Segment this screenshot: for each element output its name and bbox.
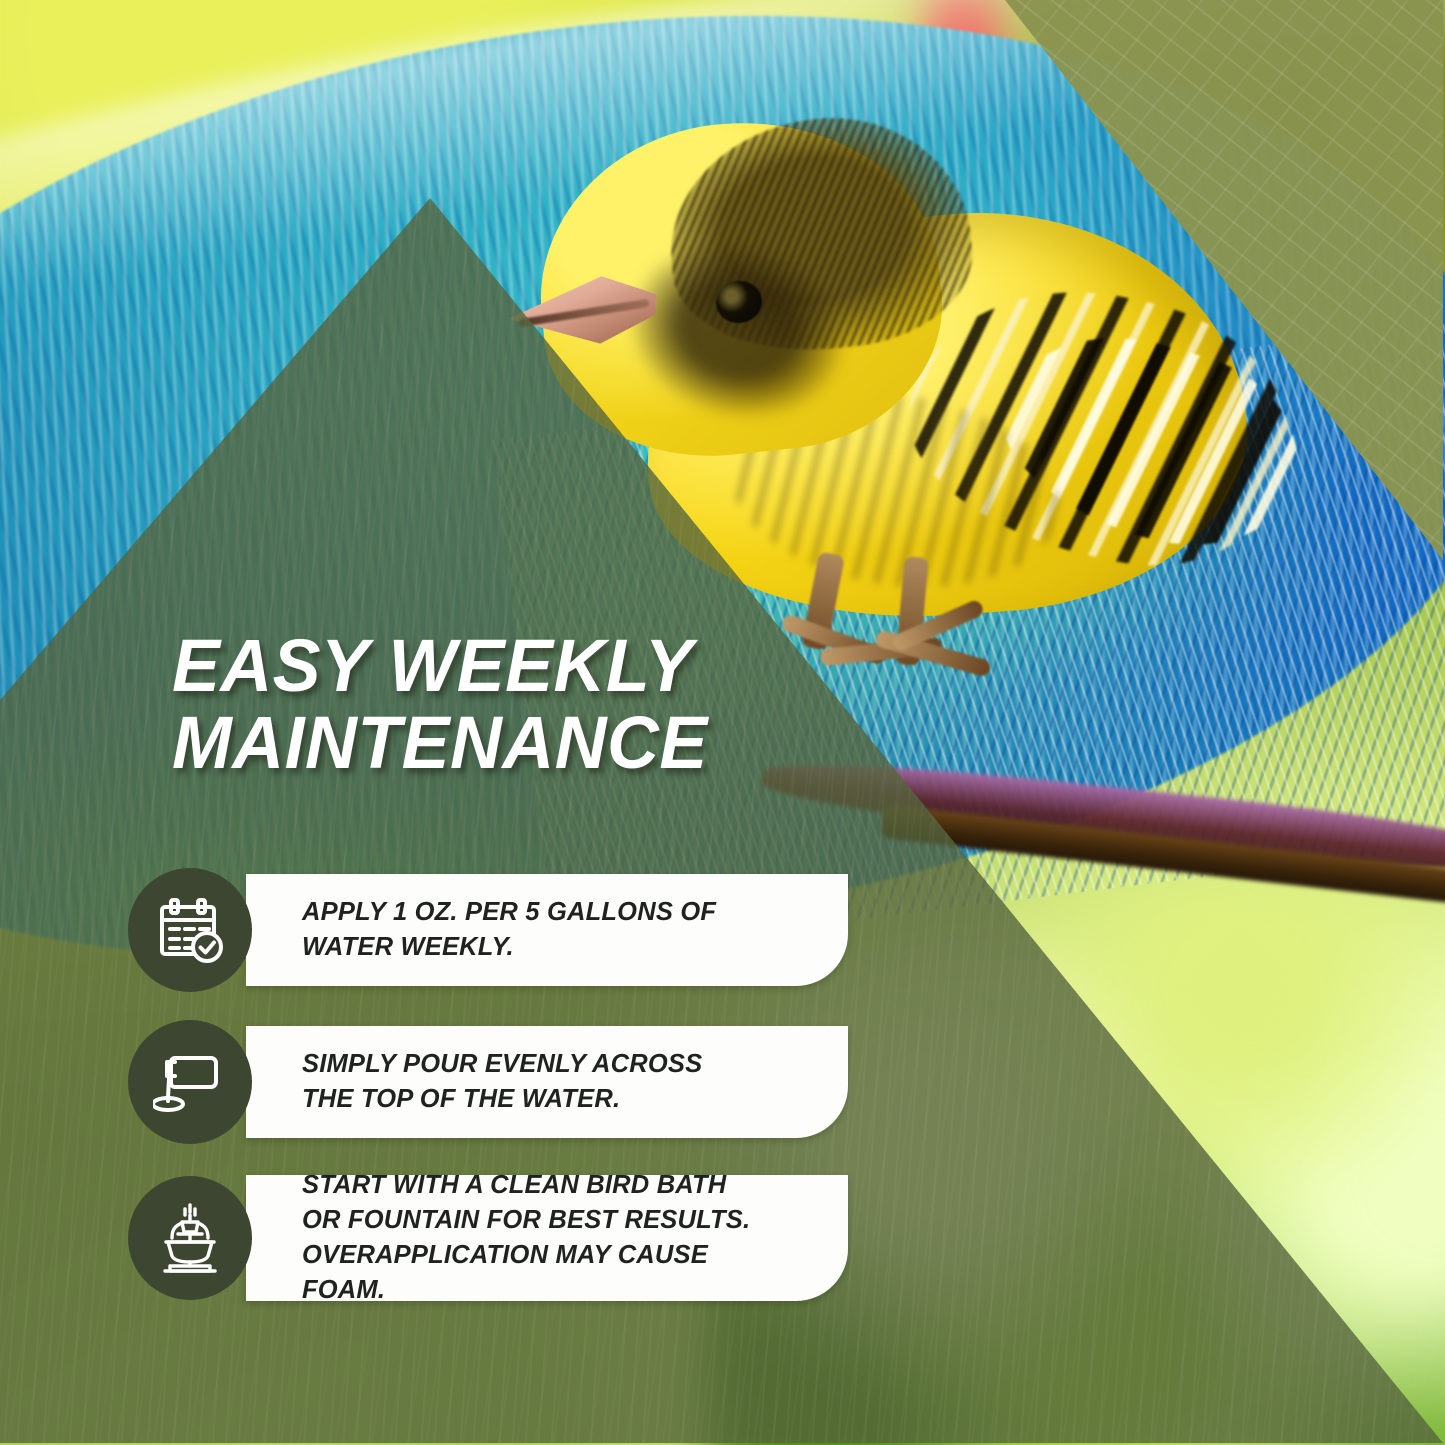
calendar-check-icon (128, 868, 252, 992)
feature-list: Apply 1 oz. per 5 gallons of water weekl… (128, 868, 848, 1332)
heading-line-2: Maintenance (172, 705, 851, 782)
page-title: Easy Weekly Maintenance (172, 628, 851, 782)
list-item: Simply pour evenly across the top of the… (128, 1020, 848, 1144)
feature-text: Start with a clean bird bath or fountain… (302, 1152, 848, 1325)
fountain-icon (128, 1176, 252, 1300)
list-item: Start with a clean bird bath or fountain… (128, 1172, 848, 1304)
product-feature-card: Easy Weekly Maintenance (0, 0, 1445, 1445)
feature-text: Apply 1 oz. per 5 gallons of water weekl… (302, 879, 774, 981)
pouring-bottle-icon (128, 1020, 252, 1144)
feature-text: Simply pour evenly across the top of the… (302, 1031, 760, 1133)
heading-line-1: Easy Weekly (172, 628, 851, 705)
list-item: Apply 1 oz. per 5 gallons of water weekl… (128, 868, 848, 992)
